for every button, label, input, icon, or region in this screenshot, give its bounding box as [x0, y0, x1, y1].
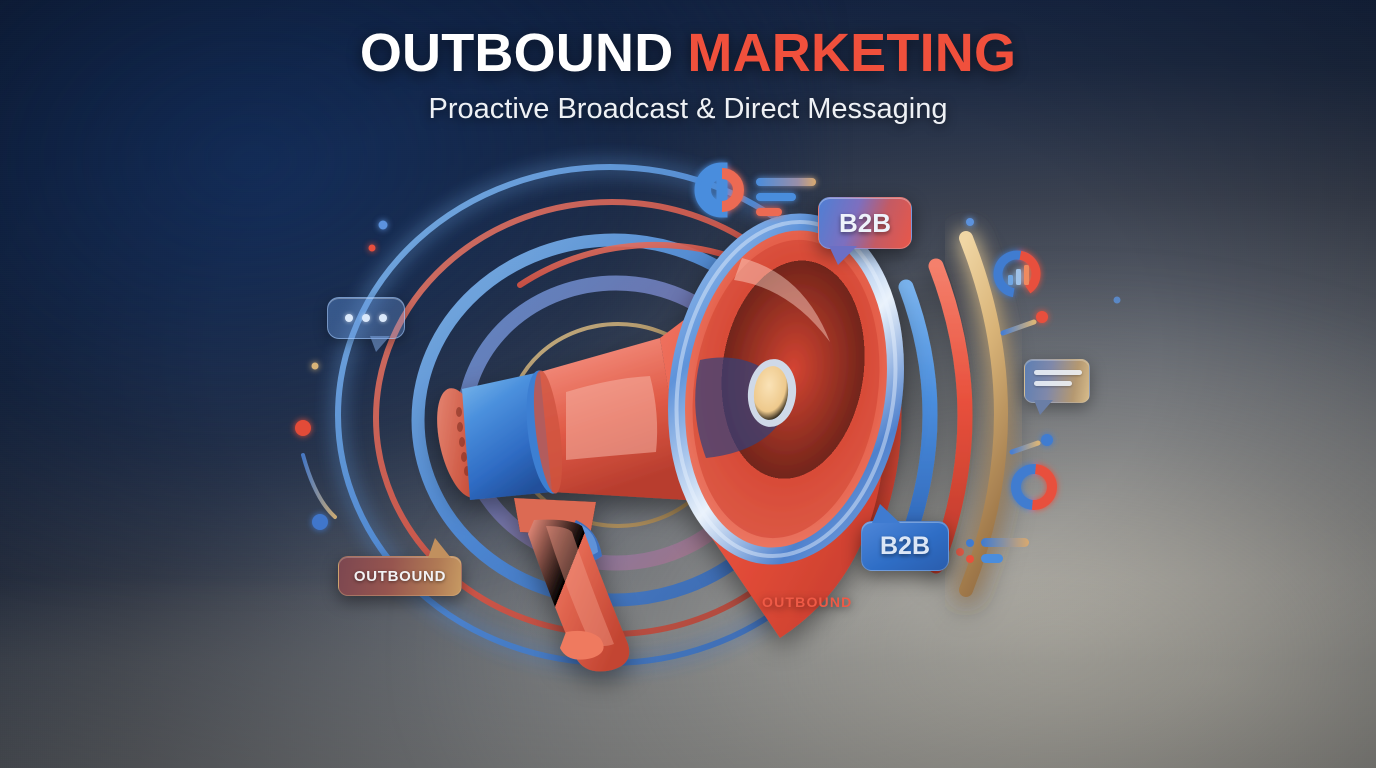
- badge-b2b-top[interactable]: B2B: [818, 197, 912, 249]
- illustration-stage: OUTBOUNDMARKETING Proactive Broadcast & …: [0, 0, 1376, 768]
- legend-row: [966, 538, 1029, 547]
- legend-bar: [981, 554, 1003, 563]
- badge-outbound-tag[interactable]: OUTBOUND: [338, 556, 462, 596]
- badge-b2b-bottom[interactable]: B2B: [861, 521, 949, 571]
- typing-dot-icon: [345, 314, 353, 322]
- legend-dot-icon: [966, 539, 974, 547]
- page-title: OUTBOUNDMARKETING: [0, 26, 1376, 81]
- donut-bar-chart-icon: [995, 252, 1039, 296]
- page-subtitle: Proactive Broadcast & Direct Messaging: [0, 93, 1376, 126]
- message-line: [1034, 381, 1072, 386]
- badge-outbound-label: OUTBOUND: [354, 568, 446, 585]
- legend-dot-icon: [966, 555, 974, 563]
- legend-bar: [981, 538, 1029, 547]
- speech-tail-icon: [370, 336, 390, 352]
- label-outbound-floating: OUTBOUND: [762, 594, 852, 610]
- message-bubble-icon[interactable]: [1024, 359, 1090, 403]
- badge-b2b-top-label: B2B: [839, 208, 891, 239]
- donut-chart-icon: [700, 168, 816, 216]
- donut-chart-icon: [1014, 467, 1053, 506]
- message-line: [1034, 370, 1082, 375]
- typing-dot-icon: [379, 314, 387, 322]
- title-word-outbound: OUTBOUND: [360, 23, 674, 83]
- title-block: OUTBOUNDMARKETING Proactive Broadcast & …: [0, 26, 1376, 126]
- typing-indicator-icon[interactable]: [327, 297, 405, 339]
- legend-group: [966, 538, 1029, 570]
- speech-tail-icon: [428, 538, 451, 558]
- speech-tail-icon: [1034, 400, 1053, 415]
- title-word-marketing: MARKETING: [687, 23, 1016, 83]
- speech-tail-icon: [872, 504, 900, 523]
- legend-row: [966, 554, 1029, 563]
- badge-b2b-bottom-label: B2B: [880, 532, 930, 561]
- typing-dot-icon: [362, 314, 370, 322]
- speech-tail-icon: [829, 246, 857, 265]
